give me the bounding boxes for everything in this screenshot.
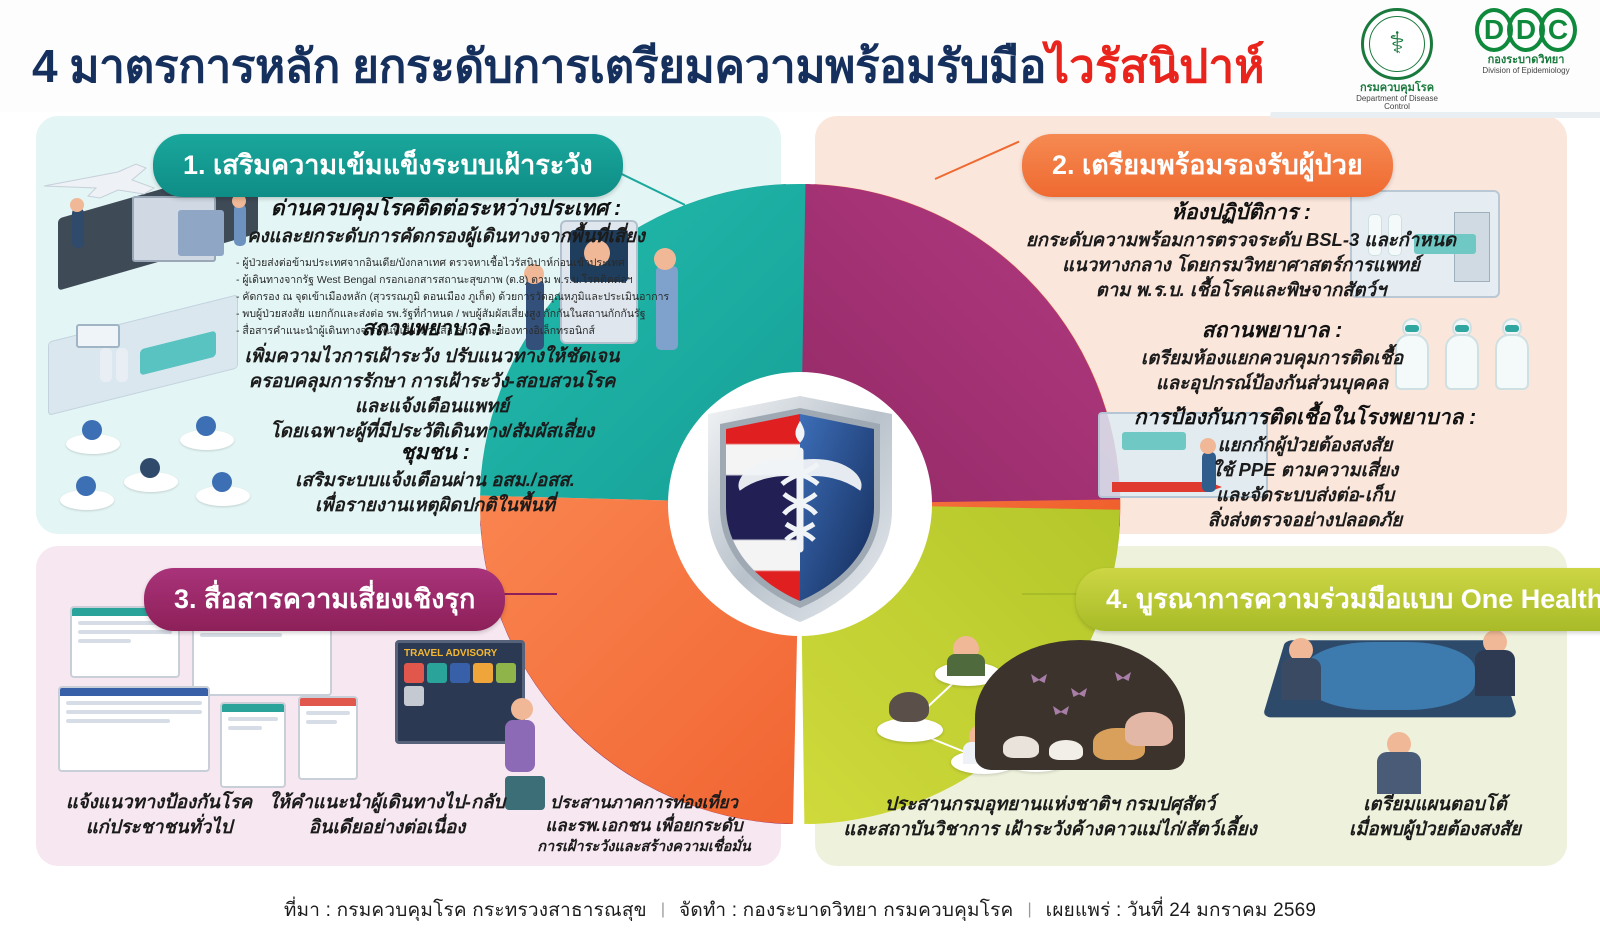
connector-line-4 xyxy=(1022,593,1080,595)
footer: ที่มา : กรมควบคุมโรค กระทรวงสาธารณสุข | … xyxy=(0,870,1600,950)
block-heading: ด่านควบคุมโรคติดต่อระหว่างประเทศ : xyxy=(236,196,656,222)
moph-logo: ⚕ กรมควบคุมโรค Department of Disease Con… xyxy=(1344,8,1450,112)
bullet-item: - ผู้ป่วยส่งต่อข้ามประเทศจากอินเดีย/บังก… xyxy=(236,255,656,272)
header: 4 มาตรการหลัก ยกระดับการเตรียมความพร้อมร… xyxy=(0,0,1600,112)
ddc-logo-label-th: กองระบาดวิทยา xyxy=(1466,54,1586,67)
caption-line: ประสานภาคการท่องเที่ยว xyxy=(510,792,778,815)
title-highlight-text: ไวรัสนิปาห์ xyxy=(1046,40,1265,92)
caption-line: และสถาบันวิชาการ เฝ้าระวังค้างคาวแม่ไก่/… xyxy=(830,817,1270,842)
bullet-item: - ผู้เดินทางจากรัฐ West Bengal กรอกเอกสา… xyxy=(236,272,656,289)
logo-group: ⚕ กรมควบคุมโรค Department of Disease Con… xyxy=(1344,8,1586,112)
section-3-caption-3: ประสานภาคการท่องเที่ยว และรพ.เอกชน เพื่อ… xyxy=(510,792,778,857)
caption-line: เตรียมแผนตอบโต้ xyxy=(1300,792,1570,817)
block-body-line: และอุปกรณ์ป้องกันส่วนบุคคล xyxy=(1062,371,1482,396)
caption-line: ประสานกรมอุทยานแห่งชาติฯ กรมปศุสัตว์ xyxy=(830,792,1270,817)
section-3-caption-2: ให้คำแนะนำผู้เดินทางไป-กลับ อินเดียอย่าง… xyxy=(256,790,518,840)
travel-advisory-board-illustration: TRAVEL ADVISORY xyxy=(395,640,535,800)
section-2-block-hospital: สถานพยาบาล : เตรียมห้องแยกควบคุมการติดเช… xyxy=(1062,318,1482,396)
block-body-line: ใช้ PPE ตามความเสี่ยง xyxy=(1060,458,1550,483)
block-body-line: เสริมระบบแจ้งเตือนผ่าน อสม./อสส. xyxy=(215,468,655,493)
caption-line: ให้คำแนะนำผู้เดินทางไป-กลับ xyxy=(256,790,518,815)
ddc-logo-label-en: Division of Epidemiology xyxy=(1466,67,1586,76)
section-3-caption-1: แจ้งแนวทางป้องกันโรค แก่ประชาชนทั่วไป xyxy=(44,790,274,840)
section-4-caption-1: ประสานกรมอุทยานแห่งชาติฯ กรมปศุสัตว์ และ… xyxy=(830,792,1270,842)
footer-separator-2: | xyxy=(1013,901,1045,919)
section-1-block-hospital: สถานพยาบาล : เพิ่มความไวการเฝ้าระวัง ปรั… xyxy=(176,316,688,443)
footer-producer: จัดทำ : กองระบาดวิทยา กรมควบคุมโรค xyxy=(679,895,1013,925)
block-heading: สถานพยาบาล : xyxy=(176,316,688,342)
bat-cave-illustration xyxy=(975,640,1195,790)
footer-source: ที่มา : กรมควบคุมโรค กระทรวงสาธารณสุข xyxy=(284,895,647,925)
block-body-line: เตรียมห้องแยกควบคุมการติดเชื้อ xyxy=(1062,346,1482,371)
footer-separator-1: | xyxy=(647,901,679,919)
bullet-item: - คัดกรอง ณ จุดเข้าเมืองหลัก (สุวรรณภูมิ… xyxy=(236,289,656,306)
caption-line-small: การเฝ้าระวังและสร้างความเชื่อมั่น xyxy=(510,838,778,857)
block-body-line: เพื่อรายงานเหตุผิดปกติในพื้นที่ xyxy=(215,493,655,518)
section-4-caption-2: เตรียมแผนตอบโต้ เมื่อพบผู้ป่วยต้องสงสัย xyxy=(1300,792,1570,842)
ddc-logo: D D C กองระบาดวิทยา Division of Epidemio… xyxy=(1466,8,1586,75)
section-4-title-pill[interactable]: 4. บูรณาการความร่วมมือแบบ One Health xyxy=(1076,568,1600,631)
section-2-title-pill[interactable]: 2. เตรียมพร้อมรองรับผู้ป่วย xyxy=(1022,134,1393,197)
block-heading: การป้องกันการติดเชื้อในโรงพยาบาล : xyxy=(1060,405,1550,431)
block-body-line: แนวทางกลาง โดยกรมวิทยาศาสตร์การแพทย์ xyxy=(1006,253,1476,278)
title-main-text: 4 มาตรการหลัก ยกระดับการเตรียมความพร้อมร… xyxy=(32,40,1046,92)
section-1-block-community: ชุมชน : เสริมระบบแจ้งเตือนผ่าน อสม./อสส.… xyxy=(215,440,655,518)
section-3-title-pill[interactable]: 3. สื่อสารความเสี่ยงเชิงรุก xyxy=(144,568,505,631)
block-body-line: ครอบคลุมการรักษา การเฝ้าระวัง-สอบสวนโรค xyxy=(176,369,688,394)
block-body-line: แยกกักผู้ป่วยต้องสงสัย xyxy=(1060,433,1550,458)
block-body-line: และแจ้งเตือนแพทย์ xyxy=(176,394,688,419)
section-2-block-infection-prevention: การป้องกันการติดเชื้อในโรงพยาบาล : แยกกั… xyxy=(1060,405,1550,532)
moph-logo-label-en: Department of Disease Control xyxy=(1344,95,1450,113)
block-heading: ชุมชน : xyxy=(215,440,655,466)
section-2-block-laboratory: ห้องปฏิบัติการ : ยกระดับความพร้อมการตรวจ… xyxy=(1006,200,1476,303)
block-body-line: สิ่งส่งตรวจอย่างปลอดภัย xyxy=(1060,508,1550,533)
block-heading: ห้องปฏิบัติการ : xyxy=(1006,200,1476,226)
ddc-letter-3: C xyxy=(1539,8,1577,52)
caption-line: แก่ประชาชนทั่วไป xyxy=(44,815,274,840)
section-1-title-pill[interactable]: 1. เสริมความเข้มแข็งระบบเฝ้าระวัง xyxy=(153,134,623,197)
footer-published: เผยแพร่ : วันที่ 24 มกราคม 2569 xyxy=(1046,895,1317,925)
block-body-line: และจัดระบบส่งต่อ-เก็บ xyxy=(1060,483,1550,508)
airplane-illustration xyxy=(40,158,160,204)
caption-line: อินเดียอย่างต่อเนื่อง xyxy=(256,815,518,840)
caption-line: เมื่อพบผู้ป่วยต้องสงสัย xyxy=(1300,817,1570,842)
moph-logo-label-th: กรมควบคุมโรค xyxy=(1344,82,1450,95)
infographic-canvas: TRAVEL ADVISORY xyxy=(0,0,1600,950)
block-body-line: คงและยกระดับการคัดกรองผู้เดินทางจากพื้นท… xyxy=(236,224,656,249)
ddc-letters: D D C xyxy=(1466,8,1586,52)
page-title: 4 มาตรการหลัก ยกระดับการเตรียมความพร้อมร… xyxy=(32,30,1265,103)
block-body-line: ตาม พ.ร.บ. เชื้อโรคและพิษจากสัตว์ฯ xyxy=(1006,278,1476,303)
caption-line: แจ้งแนวทางป้องกันโรค xyxy=(44,790,274,815)
block-body-line: เพิ่มความไวการเฝ้าระวัง ปรับแนวทางให้ชัด… xyxy=(176,344,688,369)
one-health-meeting-illustration xyxy=(1275,620,1555,800)
block-heading: สถานพยาบาล : xyxy=(1062,318,1482,344)
block-body-line: ยกระดับความพร้อมการตรวจระดับ BSL-3 และกำ… xyxy=(1006,228,1476,253)
advisory-board-label: TRAVEL ADVISORY xyxy=(398,643,522,659)
caption-line: และรพ.เอกชน เพื่อยกระดับ xyxy=(510,815,778,838)
caduceus-icon: ⚕ xyxy=(1361,8,1433,80)
